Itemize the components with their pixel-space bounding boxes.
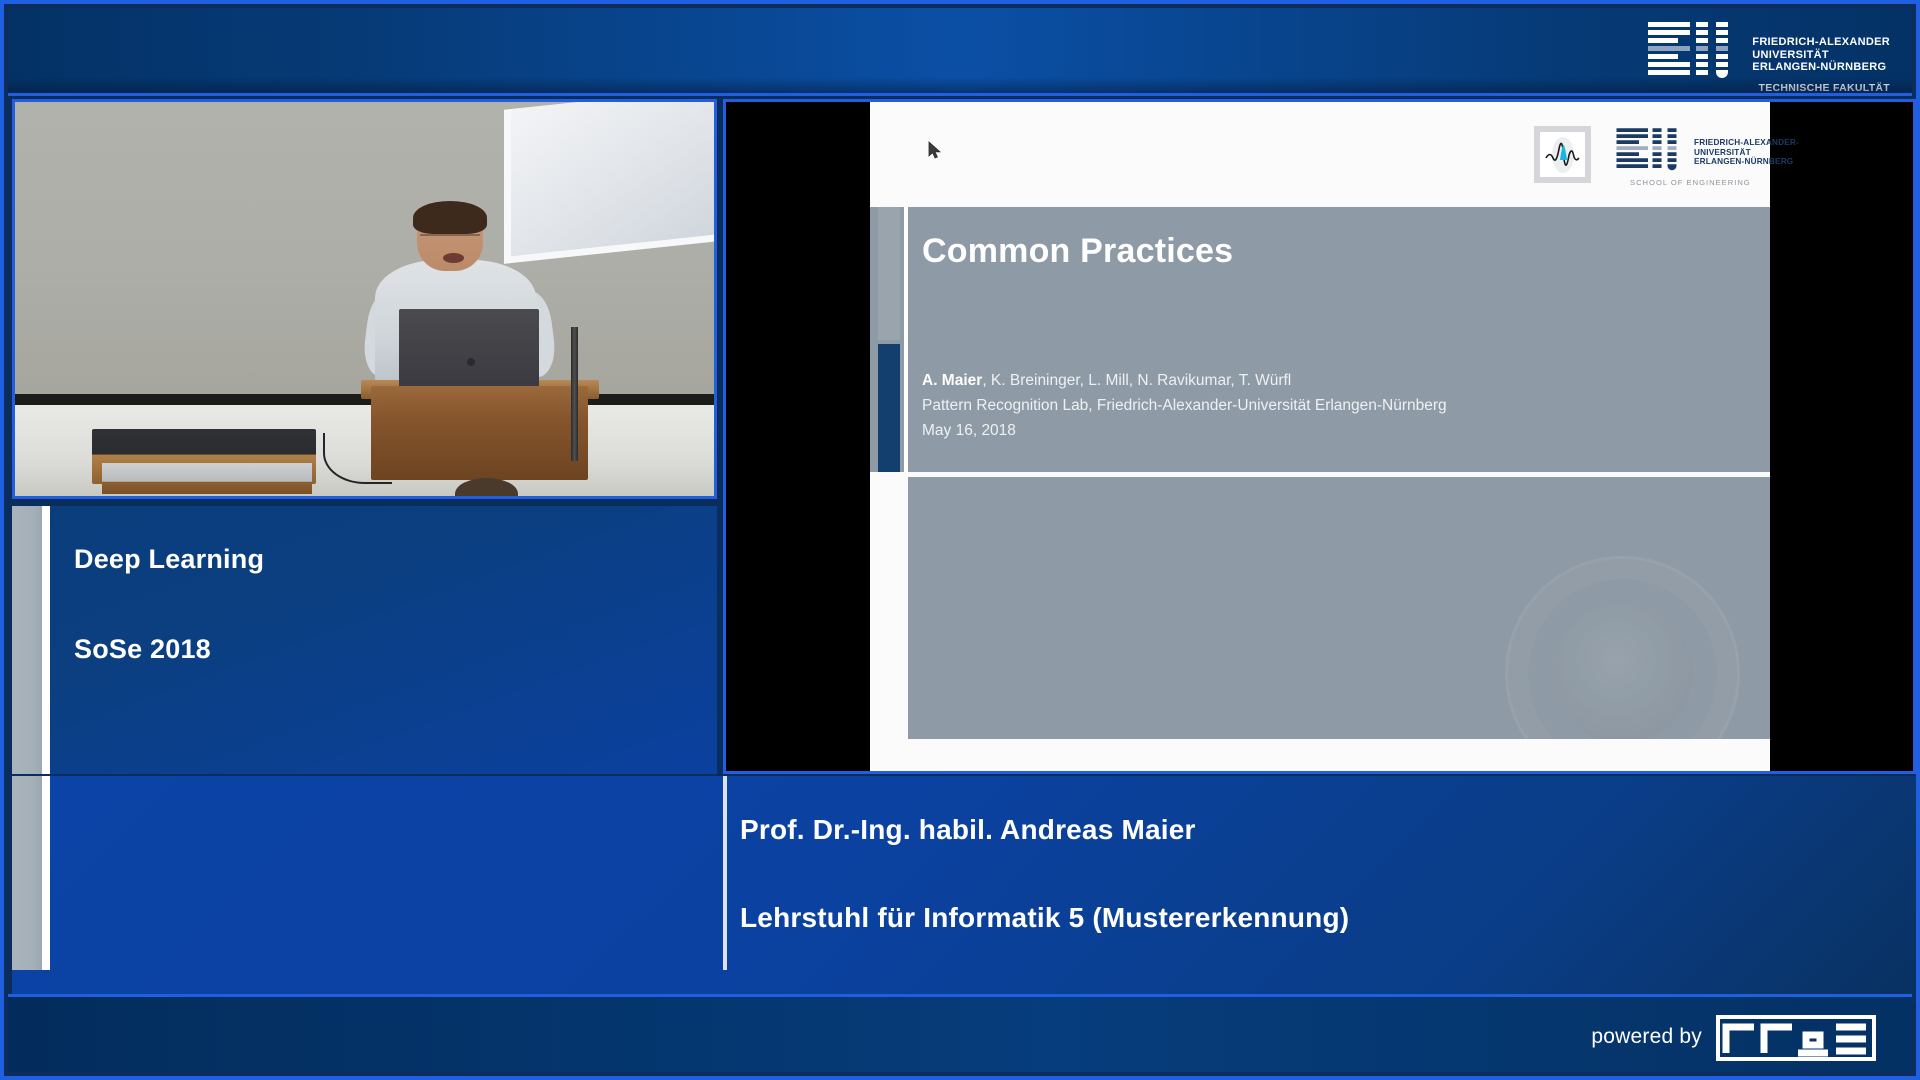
slide-header: FRIEDRICH-ALEXANDER- UNIVERSITÄT ERLANGE…	[870, 102, 1770, 207]
course-term: SoSe 2018	[74, 634, 717, 665]
slide-fau-wordmark: FRIEDRICH-ALEXANDER- UNIVERSITÄT ERLANGE…	[1694, 126, 1799, 167]
projection-screen	[504, 99, 717, 263]
slide-body	[908, 477, 1770, 739]
page-footer: powered by	[8, 994, 1912, 1072]
slide-fau-line-1: FRIEDRICH-ALEXANDER-	[1694, 138, 1799, 148]
podium	[371, 386, 588, 481]
course-info-text: Deep Learning SoSe 2018	[74, 506, 717, 774]
fau-logo-icon	[1615, 126, 1687, 171]
panel-accent-strip	[12, 506, 42, 774]
lecturer-hair	[413, 201, 486, 234]
fau-logo-line-1: FRIEDRICH-ALEXANDER	[1752, 36, 1890, 49]
slide-title: Common Practices	[922, 232, 1233, 271]
presenter-name: Prof. Dr.-Ing. habil. Andreas Maier	[740, 814, 1349, 846]
presenter-info-bar: Prof. Dr.-Ing. habil. Andreas Maier Lehr…	[12, 776, 1916, 1002]
slide-accent-blue	[878, 344, 900, 472]
course-info-panel: Deep Learning SoSe 2018	[12, 506, 717, 774]
university-seal-watermark	[1505, 556, 1740, 739]
slide-title-band: Common Practices A. Maier, K. Breininger…	[870, 207, 1770, 472]
lecturer-glasses	[420, 234, 479, 243]
header-faculty-label: TECHNISCHE FAKULTÄT	[1759, 82, 1891, 94]
header-fau-wordmark: FRIEDRICH-ALEXANDER UNIVERSITÄT ERLANGEN…	[1752, 20, 1890, 74]
slide-fau-branding: FRIEDRICH-ALEXANDER- UNIVERSITÄT ERLANGE…	[1615, 126, 1799, 171]
lecture-room-scene	[15, 102, 714, 496]
fau-logo-icon	[1646, 20, 1742, 78]
slide-authors-rest: , K. Breininger, L. Mill, N. Ravikumar, …	[982, 372, 1291, 389]
course-title: Deep Learning	[74, 544, 717, 575]
slide-viewer[interactable]: FRIEDRICH-ALEXANDER- UNIVERSITÄT ERLANGE…	[723, 99, 1916, 774]
slide-fau-sublabel: SCHOOL OF ENGINEERING	[1630, 178, 1751, 187]
page-header: FRIEDRICH-ALEXANDER UNIVERSITÄT ERLANGEN…	[8, 8, 1912, 96]
rrze-logo	[1716, 1015, 1876, 1061]
powered-by-label: powered by	[1591, 1025, 1702, 1049]
front-desk-lower	[102, 463, 312, 495]
laptop	[399, 309, 539, 388]
microphone-stand	[571, 327, 578, 461]
slide-accent-divider	[904, 207, 908, 472]
presenter-chair: Lehrstuhl für Informatik 5 (Mustererkenn…	[740, 902, 1349, 934]
pattern-recognition-lab-logo	[1534, 126, 1591, 183]
slide-accent-gray	[878, 207, 900, 340]
slide-fau-line-3: ERLANGEN-NÜRNBERG	[1694, 157, 1799, 167]
slide-affiliation: Pattern Recognition Lab, Friedrich-Alexa…	[922, 393, 1447, 418]
presentation-recording-view: FRIEDRICH-ALEXANDER UNIVERSITÄT ERLANGEN…	[0, 0, 1920, 1080]
fau-logo-line-2: UNIVERSITÄT	[1752, 49, 1890, 62]
slide-authors-line: A. Maier, K. Breininger, L. Mill, N. Rav…	[922, 368, 1447, 393]
slide-date: May 16, 2018	[922, 418, 1447, 443]
presenter-divider-left	[42, 776, 50, 970]
lecture-camera-feed[interactable]	[12, 99, 717, 499]
header-fau-branding: FRIEDRICH-ALEXANDER UNIVERSITÄT ERLANGEN…	[1646, 20, 1890, 78]
panel-divider	[42, 506, 50, 774]
slide-author-lead: A. Maier	[922, 372, 982, 389]
slide-metadata: A. Maier, K. Breininger, L. Mill, N. Rav…	[922, 368, 1447, 443]
lecturer-mouth	[443, 253, 464, 263]
slide-canvas: FRIEDRICH-ALEXANDER- UNIVERSITÄT ERLANGE…	[870, 102, 1770, 771]
presenter-divider-center	[723, 776, 727, 970]
presenter-accent-strip	[12, 776, 42, 970]
presenter-text: Prof. Dr.-Ing. habil. Andreas Maier Lehr…	[740, 814, 1349, 934]
slide-fau-line-2: UNIVERSITÄT	[1694, 148, 1799, 158]
fau-logo-line-3: ERLANGEN-NÜRNBERG	[1752, 61, 1890, 74]
